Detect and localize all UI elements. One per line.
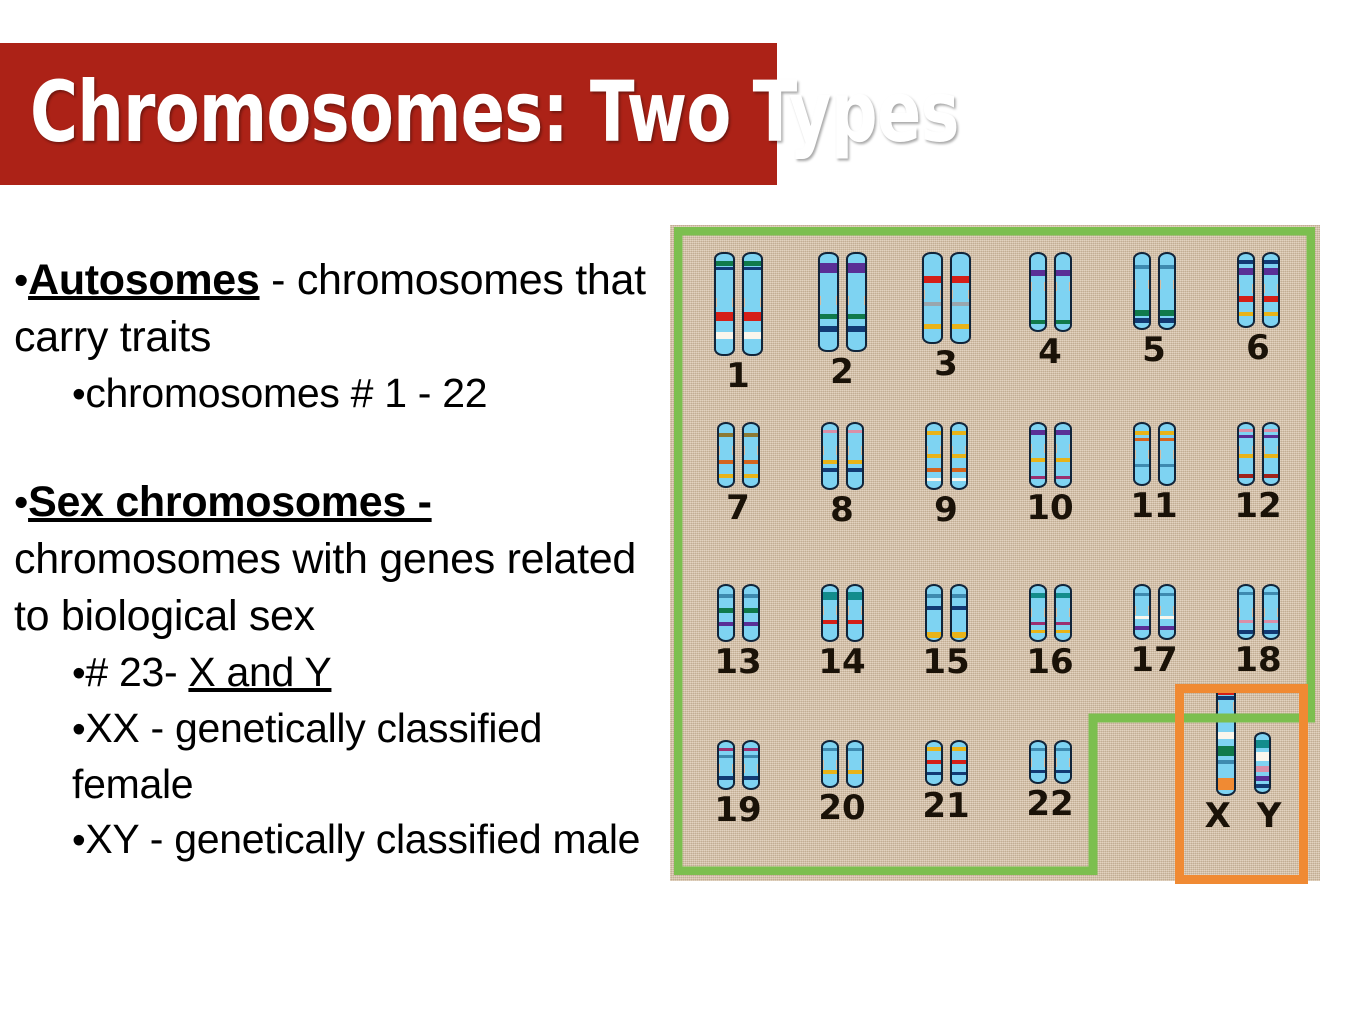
chromosome xyxy=(1054,584,1072,642)
bullet-number-23-prefix: # 23- xyxy=(85,649,188,695)
karyotype-cell: 14 xyxy=(790,584,894,680)
bullet-marker-icon: • xyxy=(72,708,85,751)
sex-chromosome-labels: X Y xyxy=(1176,798,1310,834)
chromosome xyxy=(821,584,839,642)
chromosome xyxy=(925,740,943,786)
chromosome xyxy=(717,422,735,488)
chromosome-pair xyxy=(998,584,1102,642)
bullet-spacer xyxy=(0,422,660,474)
chromosome-pair xyxy=(894,740,998,786)
chromosome-x xyxy=(1216,684,1236,796)
karyotype-cell: 13 xyxy=(686,584,790,680)
chromosome xyxy=(1262,252,1280,328)
chromosome-pair xyxy=(998,740,1102,784)
chromosome xyxy=(950,584,968,642)
chromosome-label: 21 xyxy=(894,788,998,824)
chromosome xyxy=(717,584,735,642)
chromosome-pair xyxy=(790,584,894,642)
karyotype-cell: 3 xyxy=(894,252,998,394)
chromosome xyxy=(821,422,839,490)
bullet-xx-female-label: XX - genetically classified female xyxy=(72,705,542,807)
chromosome xyxy=(1054,422,1072,488)
chromosome-label: 2 xyxy=(790,354,894,390)
karyotype-cell: 9 xyxy=(894,422,998,528)
bullet-marker-icon: • xyxy=(72,373,85,416)
bullet-autosomes: •Autosomes - chromosomes that carry trai… xyxy=(0,252,660,366)
chromosome-label: 19 xyxy=(686,792,790,828)
chromosome-pair xyxy=(1206,584,1310,640)
chromosome-label-y: Y xyxy=(1257,798,1282,834)
chromosome-label: 7 xyxy=(686,490,790,526)
chromosome-pair xyxy=(686,422,790,488)
bullet-chromosome-range: •chromosomes # 1 - 22 xyxy=(0,366,660,422)
chromosome-pair xyxy=(1102,584,1206,640)
karyotype-cell: 22 xyxy=(998,740,1102,828)
bullet-marker-icon: • xyxy=(14,479,28,525)
chromosome xyxy=(742,252,763,356)
bullet-number-23-xy: X and Y xyxy=(188,649,331,695)
chromosome-label-x: X xyxy=(1205,798,1231,834)
chromosome-label: 14 xyxy=(790,644,894,680)
chromosome-label: 17 xyxy=(1102,642,1206,678)
karyotype-cell: 18 xyxy=(1206,584,1310,680)
karyotype-cell: 7 xyxy=(686,422,790,528)
title-banner: Chromosomes: Two Types xyxy=(0,43,777,185)
bullet-marker-icon: • xyxy=(14,257,28,303)
chromosome xyxy=(950,252,971,344)
karyotype-cell: 1 xyxy=(686,252,790,394)
chromosome-pair xyxy=(1206,422,1310,486)
karyotype-cell: 12 xyxy=(1206,422,1310,528)
chromosome xyxy=(1237,584,1255,640)
chromosome xyxy=(1158,252,1176,330)
chromosome-label: 1 xyxy=(686,358,790,394)
chromosome-label: 22 xyxy=(998,786,1102,822)
karyotype-cell: 4 xyxy=(998,252,1102,394)
chromosome xyxy=(950,740,968,786)
chromosome-label: 9 xyxy=(894,492,998,528)
chromosome xyxy=(1054,740,1072,784)
chromosome xyxy=(846,422,864,490)
chromosome xyxy=(818,252,839,352)
karyotype-cell: 15 xyxy=(894,584,998,680)
chromosome xyxy=(742,422,760,488)
chromosome-pair xyxy=(790,422,894,490)
bullet-sex-chromosomes-lead: Sex chromosomes - xyxy=(28,478,432,526)
chromosome-pair xyxy=(686,252,790,356)
chromosome xyxy=(1262,584,1280,640)
chromosome-label: 15 xyxy=(894,644,998,680)
karyotype-chromosome-grid: 1 2 xyxy=(668,222,1320,884)
chromosome xyxy=(1237,422,1255,486)
chromosome xyxy=(717,740,735,790)
chromosome-pair xyxy=(894,584,998,642)
chromosome-label: 3 xyxy=(894,346,998,382)
bullet-marker-icon: • xyxy=(72,819,85,862)
chromosome-pair xyxy=(790,252,894,352)
bullet-xy-male: •XY - genetically classified male xyxy=(0,812,660,868)
chromosome-pair xyxy=(1206,252,1310,328)
chromosome-label: 12 xyxy=(1206,488,1310,524)
chromosome xyxy=(925,584,943,642)
karyotype-cell: 21 xyxy=(894,740,998,828)
chromosome-y xyxy=(1254,732,1271,794)
bullet-chromosome-range-label: chromosomes # 1 - 22 xyxy=(85,370,487,416)
chromosome xyxy=(1029,584,1047,642)
chromosome-pair xyxy=(998,422,1102,488)
karyotype-cell: 16 xyxy=(998,584,1102,680)
chromosome xyxy=(1262,422,1280,486)
chromosome-label: 20 xyxy=(790,790,894,826)
bullet-sex-chromosomes-rest: chromosomes with genes related to biolog… xyxy=(14,535,636,640)
chromosome-label: 8 xyxy=(790,492,894,528)
chromosome-label: 11 xyxy=(1102,488,1206,524)
bullet-number-23: •# 23- X and Y xyxy=(0,645,660,701)
karyotype-cell: 19 xyxy=(686,740,790,828)
chromosome xyxy=(846,252,867,352)
chromosome-pair xyxy=(686,584,790,642)
chromosome-pair xyxy=(894,252,998,344)
chromosome xyxy=(1054,252,1072,332)
sex-chromosome-pair xyxy=(1176,684,1310,796)
chromosome-pair xyxy=(1102,252,1206,330)
karyotype-cell: 5 xyxy=(1102,252,1206,394)
chromosome-label: 10 xyxy=(998,490,1102,526)
chromosome-pair xyxy=(686,740,790,790)
karyotype-figure: 1 2 xyxy=(668,222,1320,884)
chromosome xyxy=(1133,584,1151,640)
chromosome xyxy=(1133,252,1151,330)
chromosome xyxy=(742,584,760,642)
chromosome xyxy=(1237,252,1255,328)
chromosome xyxy=(1133,422,1151,486)
bullet-xx-female: •XX - genetically classified female xyxy=(0,701,660,812)
bullet-sex-chromosomes: •Sex chromosomes - chromosomes with gene… xyxy=(0,474,660,645)
chromosome xyxy=(925,422,943,490)
chromosome xyxy=(1029,252,1047,332)
chromosome-label: 6 xyxy=(1206,330,1310,366)
chromosome xyxy=(1158,584,1176,640)
chromosome-pair xyxy=(1102,422,1206,486)
karyotype-cell: 2 xyxy=(790,252,894,394)
karyotype-cell: 17 xyxy=(1102,584,1206,680)
chromosome xyxy=(846,584,864,642)
karyotype-cell-sex: X Y xyxy=(1176,684,1310,834)
bullet-xy-male-label: XY - genetically classified male xyxy=(85,816,640,862)
chromosome xyxy=(742,740,760,790)
chromosome xyxy=(1029,422,1047,488)
karyotype-cell: 10 xyxy=(998,422,1102,528)
chromosome-label: 16 xyxy=(998,644,1102,680)
chromosome-label: 13 xyxy=(686,644,790,680)
chromosome xyxy=(821,740,839,788)
chromosome-label: 4 xyxy=(998,334,1102,370)
chromosome xyxy=(1029,740,1047,784)
page-title: Chromosomes: Two Types xyxy=(30,63,959,161)
karyotype-cell: 20 xyxy=(790,740,894,828)
chromosome xyxy=(950,422,968,490)
chromosome xyxy=(1158,422,1176,486)
karyotype-cell: 8 xyxy=(790,422,894,528)
body-text-block: •Autosomes - chromosomes that carry trai… xyxy=(0,252,660,868)
karyotype-cell: 6 xyxy=(1206,252,1310,394)
chromosome xyxy=(922,252,943,344)
chromosome-pair xyxy=(790,740,894,788)
chromosome-pair xyxy=(894,422,998,490)
chromosome xyxy=(714,252,735,356)
bullet-marker-icon: • xyxy=(72,652,85,695)
chromosome-label: 5 xyxy=(1102,332,1206,368)
chromosome-label: 18 xyxy=(1206,642,1310,678)
karyotype-cell: 11 xyxy=(1102,422,1206,528)
chromosome-pair xyxy=(998,252,1102,332)
chromosome xyxy=(846,740,864,788)
bullet-autosomes-lead: Autosomes xyxy=(28,256,259,304)
